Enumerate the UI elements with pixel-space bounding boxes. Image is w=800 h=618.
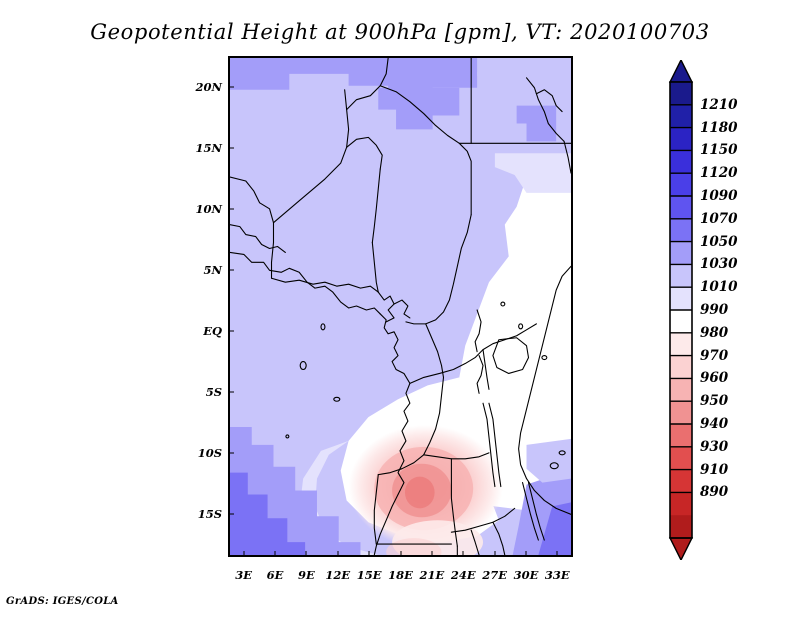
lon-tick-label-15e: 15E [357, 568, 382, 582]
colorbar-block-0 [670, 82, 692, 105]
lon-tick-mark [369, 551, 370, 557]
lon-tick-label-3e: 3E [235, 568, 252, 582]
lat-tick-label-15s: 15S [198, 507, 222, 521]
lon-tick-label-21e: 21E [419, 568, 444, 582]
lon-tick-mark [494, 551, 495, 557]
lat-tick-label-15n: 15N [195, 141, 222, 155]
lon-tick-label-27e: 27E [482, 568, 507, 582]
colorbar-block-13 [670, 378, 692, 401]
colorbar-tick-label-1030: 1030 [700, 256, 738, 272]
colorbar-tick-label-930: 930 [700, 439, 728, 455]
longitude-axis: 3E6E9E12E15E18E21E24E27E30E33E [228, 560, 573, 586]
colorbar-tick-label-940: 940 [700, 416, 728, 432]
lon-tick-label-33e: 33E [545, 568, 570, 582]
colorbar-tick-label-1180: 1180 [700, 120, 738, 136]
lon-tick-label-9e: 9E [298, 568, 315, 582]
lon-tick-label-12e: 12E [325, 568, 350, 582]
lon-tick-label-24e: 24E [451, 568, 476, 582]
lon-tick-mark [463, 551, 464, 557]
colorbar-tick-label-1210: 1210 [700, 97, 738, 113]
page-title: Geopotential Height at 900hPa [gpm], VT:… [0, 20, 800, 44]
colorbar-block-3 [670, 150, 692, 173]
colorbar-block-6 [670, 219, 692, 242]
colorbar-arrow-top [670, 60, 692, 82]
colorbar-tick-label-1070: 1070 [700, 211, 738, 227]
lon-tick-mark [306, 551, 307, 557]
colorbar-tick-label-1010: 1010 [700, 279, 738, 295]
colorbar-tick-label-1090: 1090 [700, 188, 738, 204]
lat-tick-label-10n: 10N [195, 202, 222, 216]
lon-tick-mark [400, 551, 401, 557]
colorbar-block-7 [670, 242, 692, 265]
coastline-border-overlay [230, 58, 571, 555]
lat-tick-label-eq: EQ [203, 324, 222, 338]
colorbar-swatches [666, 60, 696, 560]
colorbar-tick-label-1050: 1050 [700, 234, 738, 250]
lat-tick-mark [228, 86, 234, 87]
colorbar-block-18 [670, 492, 692, 515]
lat-tick-mark [228, 392, 234, 393]
lon-tick-mark [275, 551, 276, 557]
colorbar-block-14 [670, 401, 692, 424]
lat-tick-mark [228, 269, 234, 270]
colorbar-tick-label-1150: 1150 [700, 142, 738, 158]
attribution-label: GrADS: IGES/COLA [6, 596, 119, 607]
colorbar-block-8 [670, 264, 692, 287]
colorbar[interactable]: 1210118011501120109010701050103010109909… [666, 60, 796, 560]
lat-tick-mark [228, 208, 234, 209]
colorbar-block-17 [670, 470, 692, 493]
colorbar-block-10 [670, 310, 692, 333]
colorbar-arrow-bottom [670, 538, 692, 560]
lon-tick-mark [557, 551, 558, 557]
colorbar-tick-label-1120: 1120 [700, 165, 738, 181]
latitude-axis: 20N15N10N5NEQ5S10S15S [186, 56, 222, 557]
lat-tick-label-20n: 20N [195, 80, 222, 94]
lon-tick-mark [243, 551, 244, 557]
lat-tick-mark [228, 147, 234, 148]
colorbar-block-19 [670, 515, 692, 538]
lon-tick-label-6e: 6E [267, 568, 284, 582]
colorbar-block-1 [670, 105, 692, 128]
colorbar-tick-label-970: 970 [700, 348, 728, 364]
lat-tick-label-10s: 10S [198, 446, 222, 460]
lat-tick-mark [228, 453, 234, 454]
colorbar-block-9 [670, 287, 692, 310]
colorbar-block-5 [670, 196, 692, 219]
lon-tick-mark [525, 551, 526, 557]
lat-tick-label-5n: 5N [203, 263, 222, 277]
colorbar-block-15 [670, 424, 692, 447]
colorbar-block-2 [670, 128, 692, 151]
lon-tick-mark [337, 551, 338, 557]
colorbar-block-16 [670, 447, 692, 470]
lon-tick-mark [431, 551, 432, 557]
colorbar-tick-label-950: 950 [700, 393, 728, 409]
map-panel[interactable] [228, 56, 573, 557]
colorbar-block-11 [670, 333, 692, 356]
colorbar-tick-label-890: 890 [700, 484, 728, 500]
lat-tick-label-5s: 5S [206, 385, 222, 399]
colorbar-tick-label-990: 990 [700, 302, 728, 318]
colorbar-block-4 [670, 173, 692, 196]
colorbar-tick-label-980: 980 [700, 325, 728, 341]
lon-tick-label-18e: 18E [388, 568, 413, 582]
colorbar-block-12 [670, 356, 692, 379]
lat-tick-mark [228, 514, 234, 515]
lon-tick-label-30e: 30E [514, 568, 539, 582]
lat-tick-mark [228, 330, 234, 331]
colorbar-tick-label-910: 910 [700, 462, 728, 478]
colorbar-tick-label-960: 960 [700, 370, 728, 386]
